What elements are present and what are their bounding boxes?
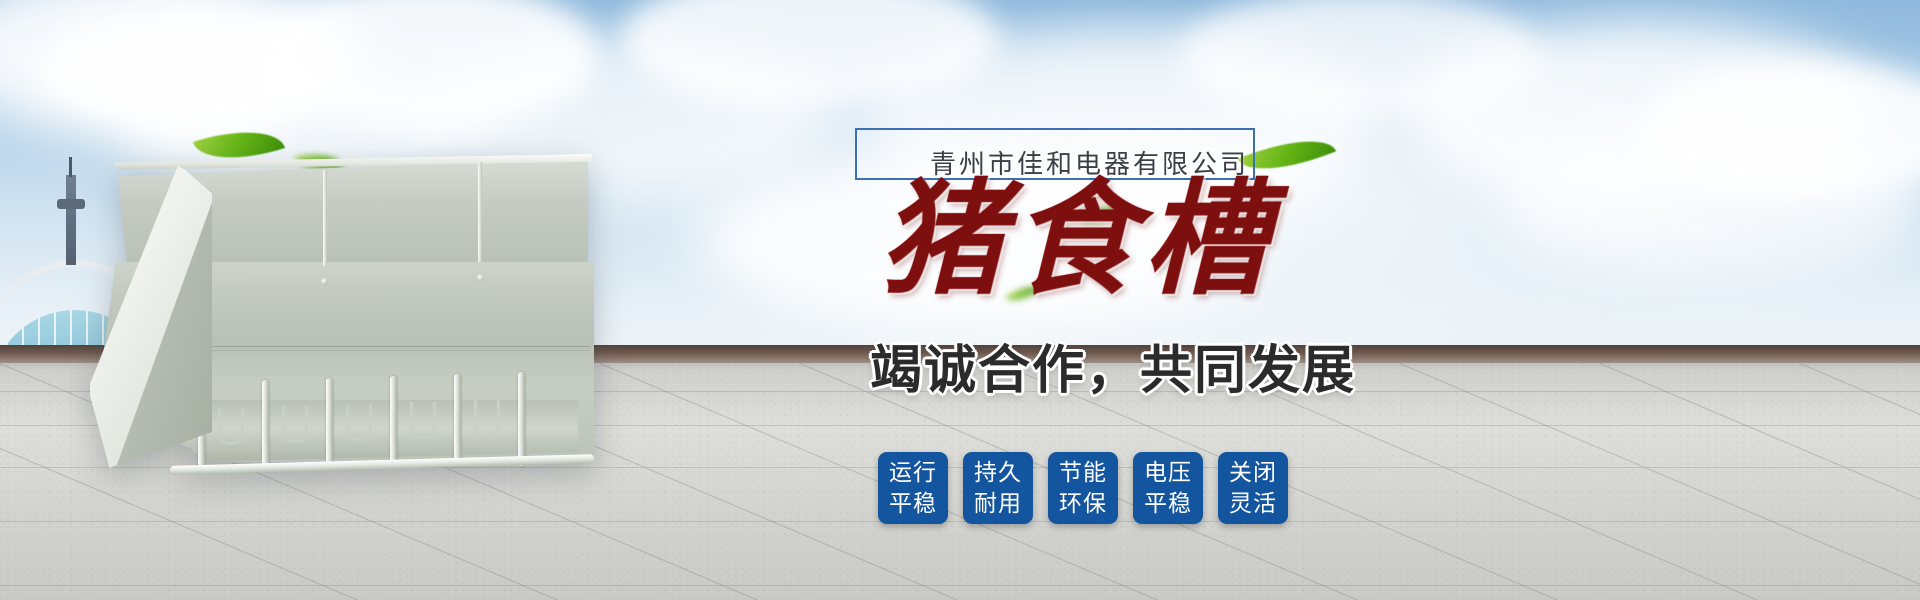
feature-badge[interactable]: 关闭 灵活: [1218, 452, 1288, 524]
feature-badge[interactable]: 电压 平稳: [1133, 452, 1203, 524]
badge-line-2: 平稳: [1144, 488, 1192, 519]
feature-badge[interactable]: 节能 环保: [1048, 452, 1118, 524]
subtitle-slogan: 竭诚合作，共同发展: [870, 340, 1330, 402]
product-image-pig-feeding-trough: [78, 150, 598, 480]
badge-line-2: 环保: [1059, 488, 1107, 519]
feature-badge[interactable]: 持久 耐用: [963, 452, 1033, 524]
promo-banner: 青州市佳和电器有限公司 猪食槽 竭诚合作，共同发展 运行 平稳 持久 耐用 节能…: [0, 0, 1920, 600]
badge-line-2: 平稳: [889, 488, 937, 519]
badge-line-2: 灵活: [1229, 488, 1277, 519]
badge-line-2: 耐用: [974, 488, 1022, 519]
badge-line-1: 电压: [1144, 457, 1192, 488]
badge-line-1: 持久: [974, 457, 1022, 488]
badge-line-1: 关闭: [1229, 457, 1277, 488]
feature-badge-list: 运行 平稳 持久 耐用 节能 环保 电压 平稳 关闭 灵活: [878, 452, 1288, 524]
page-title: 猪食槽: [880, 170, 1300, 310]
badge-line-1: 节能: [1059, 457, 1107, 488]
badge-line-1: 运行: [889, 457, 937, 488]
feature-badge[interactable]: 运行 平稳: [878, 452, 948, 524]
